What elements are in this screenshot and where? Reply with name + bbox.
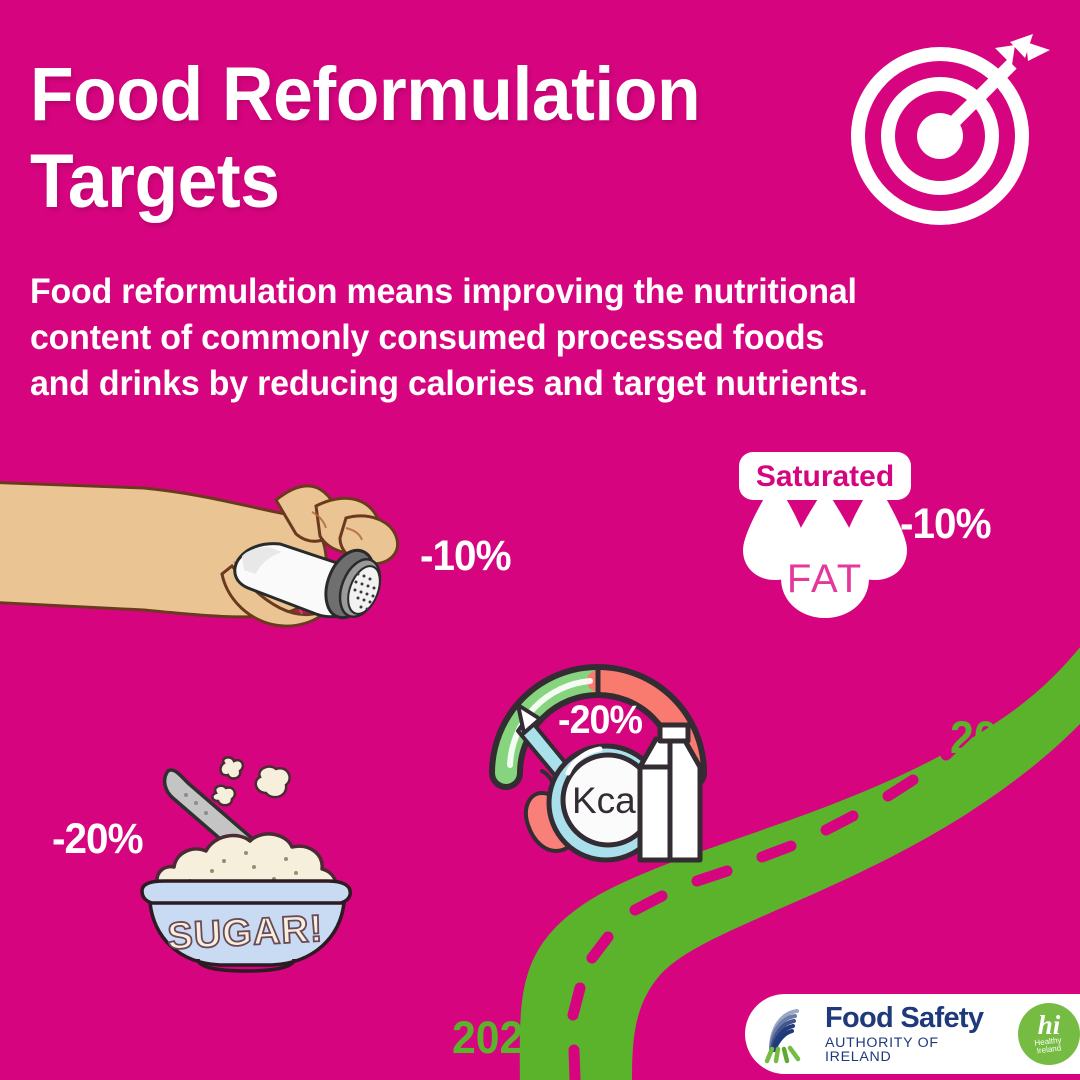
logo-bar: Food Safety AUTHORITY OF IRELAND hi Heal…: [745, 994, 1080, 1074]
fsai-logo-mark: [763, 1005, 815, 1063]
hand-icon: [0, 470, 424, 650]
sugar-bowl-label: SUGAR!: [166, 908, 324, 958]
hi-badge-initials: hi: [1038, 1013, 1061, 1037]
fat-drop-label: FAT: [787, 557, 863, 601]
hi-badge-caption: HealthyIreland: [1035, 1037, 1064, 1057]
infographic-poster: Food Reformulation Targets Food reformul…: [0, 0, 1080, 1080]
page-subtitle: Food reformulation means improving the n…: [30, 268, 1004, 406]
calorie-gauge-icon: Kcal: [488, 655, 708, 870]
saturated-badge-label: Saturated: [756, 460, 894, 493]
target-dartboard-icon: [840, 28, 1055, 223]
sugar-reduction-label: -20%: [52, 815, 143, 864]
fat-reduction-label: -10%: [900, 500, 991, 549]
kcal-reduction-label: -20%: [558, 698, 642, 743]
kcal-label: Kcal: [572, 780, 644, 821]
page-title: Food Reformulation Targets: [30, 52, 707, 225]
org-subtitle: AUTHORITY OF IRELAND: [825, 1036, 1002, 1064]
salt-reduction-label: -10%: [420, 532, 511, 581]
healthy-ireland-badge: hi HealthyIreland: [1018, 1003, 1080, 1065]
sugar-bowl-icon: SUGAR!: [120, 755, 380, 975]
org-name: Food Safety: [825, 1004, 1002, 1033]
year-label-end: 2025: [950, 712, 1045, 764]
year-label-start: 2021: [452, 1012, 547, 1064]
fat-droplets-icon: Saturated FAT: [735, 452, 915, 612]
fsai-logo-text: Food Safety AUTHORITY OF IRELAND: [825, 1004, 1002, 1064]
